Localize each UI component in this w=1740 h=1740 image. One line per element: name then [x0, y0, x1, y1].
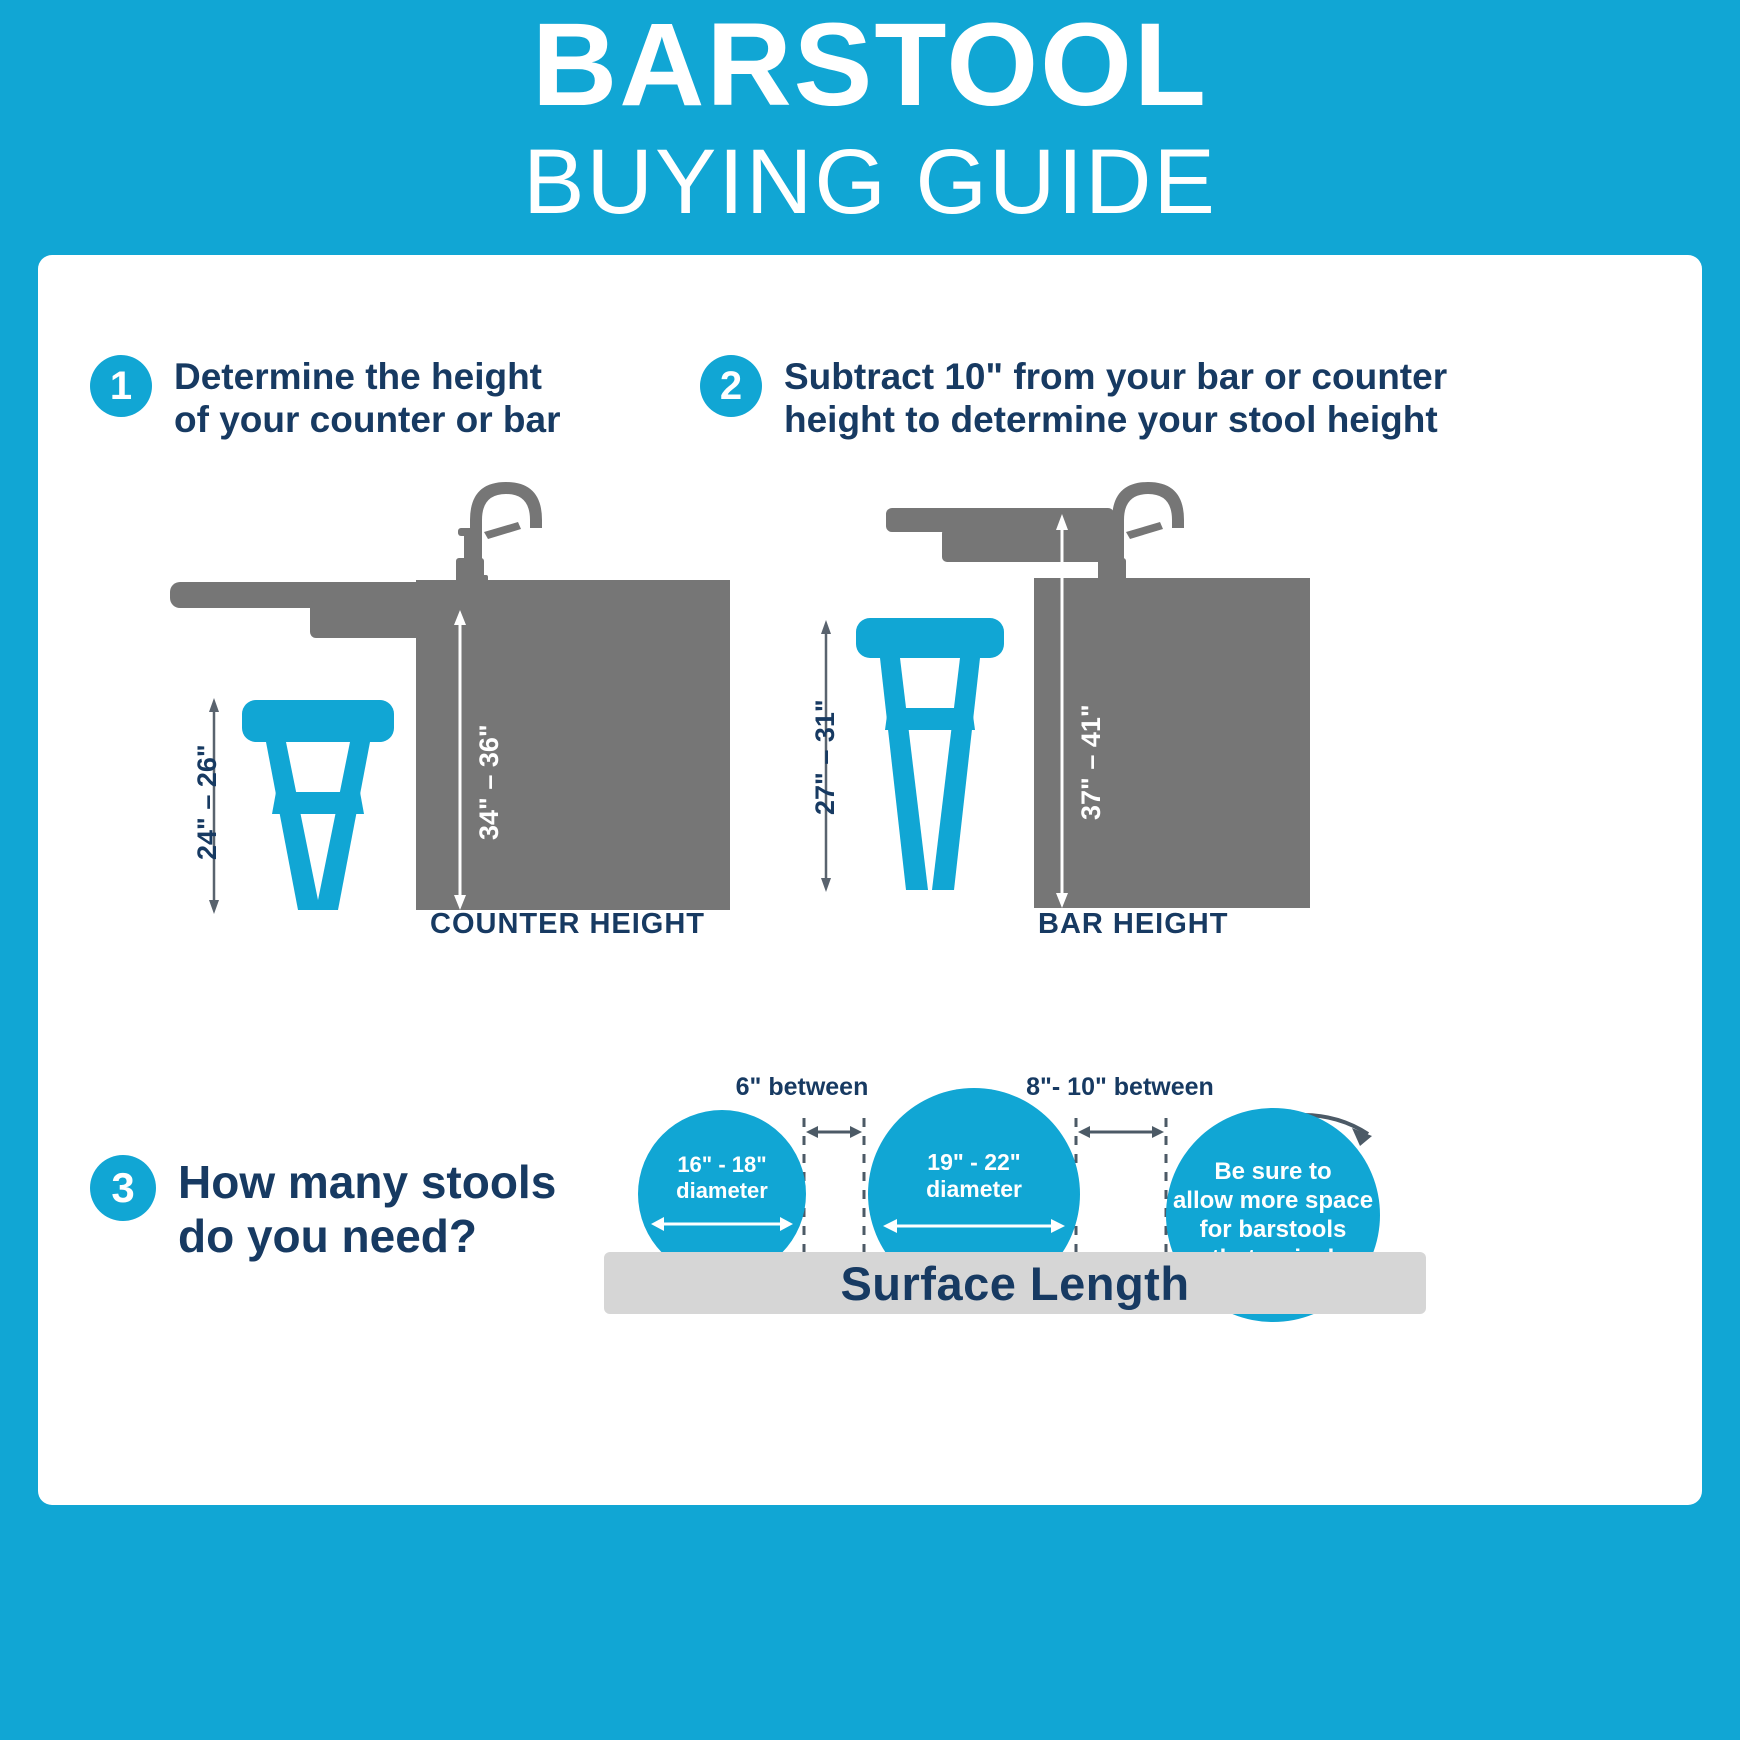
bar-upper-step — [942, 528, 1114, 562]
counter-surface-height-label: 34" – 36" — [474, 724, 505, 840]
gap-1-label: 6" between — [712, 1073, 892, 1102]
faucet-icon — [456, 482, 542, 584]
counter-top — [416, 580, 730, 612]
bar-height-diagram — [790, 470, 1310, 940]
stool-arrow-head-top — [209, 698, 219, 712]
stool-small-size: 16" - 18" — [677, 1152, 766, 1178]
stool-large-diameter-arrow — [879, 1213, 1069, 1239]
bar-stool-icon — [856, 618, 1004, 890]
step-2-header: 2 Subtract 10" from your bar or counter … — [700, 355, 1520, 441]
bar-diagram-svg — [790, 470, 1310, 940]
gap-2-label: 8"- 10" between — [1000, 1073, 1240, 1102]
bar-top — [1034, 578, 1310, 608]
counter-stool-icon — [242, 700, 394, 910]
step-1-label: Determine the height of your counter or … — [174, 355, 560, 441]
gap-1-arrow-head-right — [850, 1126, 862, 1138]
step-3-header: 3 How many stools do you need? — [90, 1155, 610, 1263]
stool-small-diameter-arrow — [647, 1212, 797, 1236]
stool-large-unit: diameter — [926, 1176, 1022, 1203]
gap-2-arrow-head-right — [1152, 1126, 1164, 1138]
step-2-label: Subtract 10" from your bar or counter he… — [784, 355, 1447, 441]
counter-body — [416, 608, 730, 910]
counter-diagram-svg — [170, 470, 730, 940]
gap-2-arrow-head-left — [1078, 1126, 1090, 1138]
bar-stool-arrow-head-bottom — [821, 878, 831, 892]
surface-length-bar: Surface Length — [604, 1252, 1426, 1314]
counter-height-caption: COUNTER HEIGHT — [430, 908, 705, 941]
stool-arrow-head-bottom — [209, 900, 219, 914]
bar-height-caption: BAR HEIGHT — [1038, 908, 1228, 941]
stool-small-unit: diameter — [676, 1178, 768, 1204]
bar-stool-height-label: 27" – 31" — [810, 699, 841, 815]
step-3-label: How many stools do you need? — [178, 1155, 556, 1263]
surface-length-label: Surface Length — [840, 1256, 1189, 1311]
infographic-page: BARSTOOL BUYING GUIDE 1 Determine the he… — [0, 0, 1740, 1740]
bar-stool-arrow-head-top — [821, 620, 831, 634]
page-subtitle: BUYING GUIDE — [0, 132, 1740, 232]
gap-1-arrow-head-left — [806, 1126, 818, 1138]
page-title: BARSTOOL — [0, 0, 1740, 124]
counter-stool-height-label: 24" – 26" — [192, 744, 223, 860]
counter-height-diagram — [170, 470, 730, 940]
gap-2-dashed-lines — [1076, 1118, 1166, 1260]
step-3-badge: 3 — [90, 1155, 156, 1221]
gap-1-dashed-lines — [804, 1118, 864, 1260]
bar-surface-height-label: 37" – 41" — [1076, 704, 1107, 820]
step-2-badge: 2 — [700, 355, 762, 417]
step-1-badge: 1 — [90, 355, 152, 417]
stool-large-size: 19" - 22" — [927, 1149, 1020, 1176]
step-1-header: 1 Determine the height of your counter o… — [90, 355, 710, 441]
header: BARSTOOL BUYING GUIDE — [0, 0, 1740, 250]
